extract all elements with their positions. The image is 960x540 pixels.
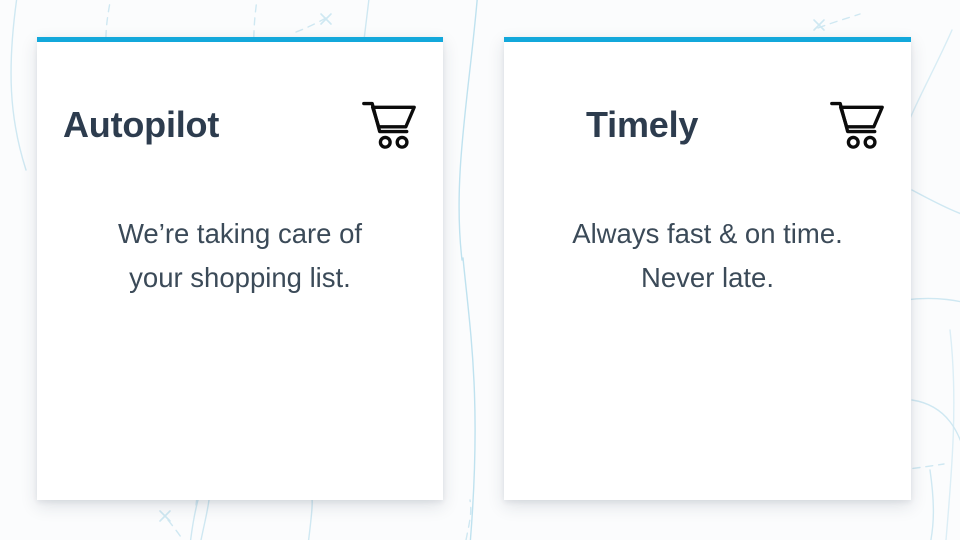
shopping-cart-icon — [361, 99, 417, 151]
card-content: Timely Always fast & on time. Never late… — [504, 42, 911, 500]
shopping-cart-icon — [829, 99, 885, 151]
card-body-line: Never late. — [526, 256, 889, 300]
decor-curve-9 — [912, 190, 960, 222]
decor-x-marker-topleft — [321, 14, 331, 24]
card-header: Timely — [530, 94, 885, 156]
card-body-line: your shopping list. — [59, 256, 421, 300]
decor-curve-10 — [905, 298, 960, 308]
card-body-text: We’re taking care of your shopping list. — [59, 212, 421, 300]
card-content: Autopilot We’re taking care of your shop… — [37, 42, 443, 500]
card-title: Timely — [530, 107, 698, 143]
decor-x-marker-topright — [814, 20, 824, 30]
decor-curve-1 — [11, 0, 26, 170]
decor-dash-4 — [818, 14, 860, 28]
card-header: Autopilot — [63, 94, 417, 156]
decor-curve-5 — [459, 0, 478, 260]
card-body-text: Always fast & on time. Never late. — [526, 212, 889, 300]
card-body-line: Always fast & on time. — [526, 212, 889, 256]
decor-curve-4 — [190, 500, 198, 540]
decor-dash-6 — [168, 520, 186, 540]
decor-dash-3 — [296, 16, 330, 32]
decor-curve-6 — [463, 258, 475, 540]
feature-card-timely[interactable]: Timely Always fast & on time. Never late… — [504, 37, 911, 500]
feature-card-autopilot[interactable]: Autopilot We’re taking care of your shop… — [37, 37, 443, 500]
slide-canvas: Autopilot We’re taking care of your shop… — [0, 0, 960, 540]
card-body-line: We’re taking care of — [59, 212, 421, 256]
decor-curve-12 — [930, 470, 933, 540]
card-title: Autopilot — [63, 107, 219, 143]
decor-dash-8 — [466, 500, 471, 540]
decor-x-marker-bottomleft — [160, 511, 170, 521]
decor-curve-14 — [946, 330, 954, 540]
decor-curve-11 — [912, 400, 960, 470]
